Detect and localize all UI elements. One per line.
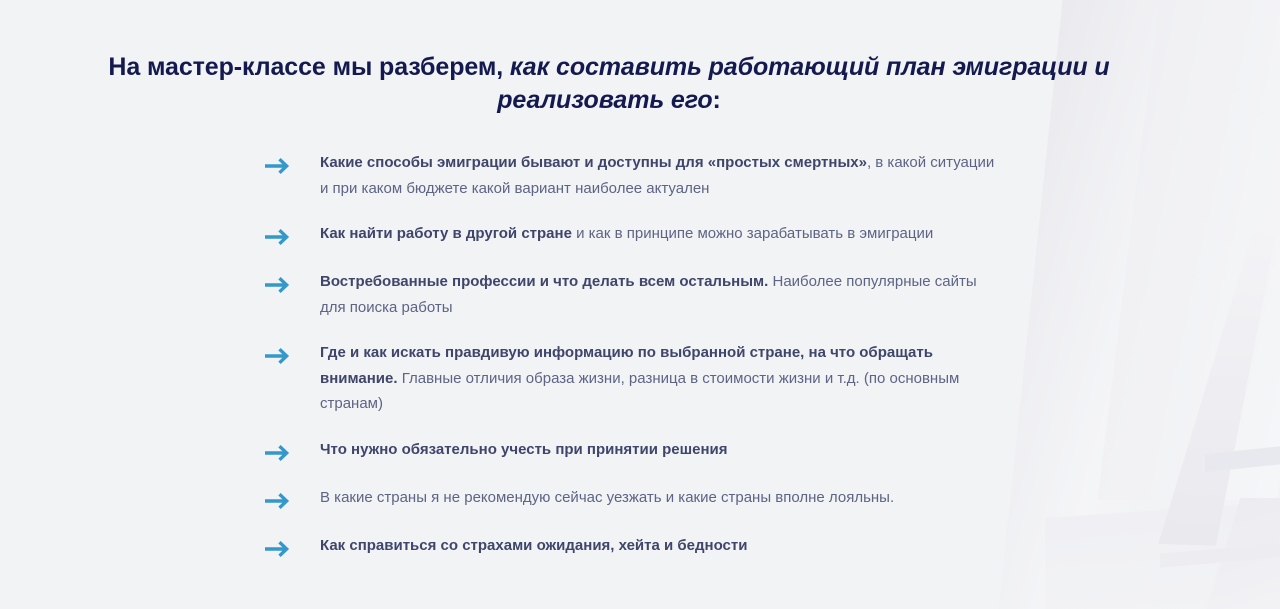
list-item-bold: Какие способы эмиграции бывают и доступн… xyxy=(320,154,867,171)
decor-shape-6 xyxy=(1160,542,1280,567)
arrow-right-icon xyxy=(264,275,294,295)
arrow-right-icon xyxy=(264,346,294,366)
list-item: Востребованные профессии и что делать вс… xyxy=(258,269,998,320)
list-item: Что нужно обязательно учесть при приняти… xyxy=(258,437,998,465)
decor-shape-5 xyxy=(1205,446,1280,472)
list-item-rest: Главные отличия образа жизни, разница в … xyxy=(320,370,959,413)
arrow-right-icon xyxy=(264,539,294,559)
list-item-text: Как справиться со страхами ожидания, хей… xyxy=(320,533,747,559)
list-item-text: Какие способы эмиграции бывают и доступн… xyxy=(320,150,998,201)
list-item-rest: и как в принципе можно зарабатывать в эм… xyxy=(572,225,933,242)
arrow-right-icon xyxy=(264,156,294,176)
list-item-text: В какие страны я не рекомендую сейчас уе… xyxy=(320,485,894,511)
list-item-text: Востребованные профессии и что делать вс… xyxy=(320,269,998,320)
benefits-list: Какие способы эмиграции бывают и доступн… xyxy=(258,150,998,561)
list-item: Где и как искать правдивую информацию по… xyxy=(258,340,998,417)
page-title-lead: На мастер-классе мы разберем, xyxy=(108,53,510,81)
list-item-bold: Как справиться со страхами ожидания, хей… xyxy=(320,537,747,554)
list-item: В какие страны я не рекомендую сейчас уе… xyxy=(258,485,998,513)
list-item-bold: Что нужно обязательно учесть при приняти… xyxy=(320,441,728,458)
decor-shape-3 xyxy=(1158,214,1279,546)
slide-root: На мастер-классе мы разберем, как состав… xyxy=(0,0,1280,609)
page-title-trail: : xyxy=(713,86,721,114)
list-item-bold: Как найти работу в другой стране xyxy=(320,225,572,242)
arrow-right-icon xyxy=(264,491,294,511)
arrow-right-icon xyxy=(264,443,294,463)
decor-shape-8 xyxy=(1045,502,1275,609)
list-item-bold: Востребованные профессии и что делать вс… xyxy=(320,273,768,290)
list-item-rest: В какие страны я не рекомендую сейчас уе… xyxy=(320,489,894,506)
list-item: Как найти работу в другой стране и как в… xyxy=(258,221,998,249)
list-item: Как справиться со страхами ожидания, хей… xyxy=(258,533,998,561)
list-item-text: Что нужно обязательно учесть при приняти… xyxy=(320,437,728,463)
page-title-emphasis: как составить работающий план эмиграции … xyxy=(497,53,1109,114)
list-item-text: Где и как искать правдивую информацию по… xyxy=(320,340,998,417)
list-item-text: Как найти работу в другой стране и как в… xyxy=(320,221,933,247)
list-item: Какие способы эмиграции бывают и доступн… xyxy=(258,150,998,201)
arrow-right-icon xyxy=(264,227,294,247)
page-title: На мастер-классе мы разберем, как состав… xyxy=(64,51,1154,117)
decor-shape-7 xyxy=(1204,498,1280,609)
